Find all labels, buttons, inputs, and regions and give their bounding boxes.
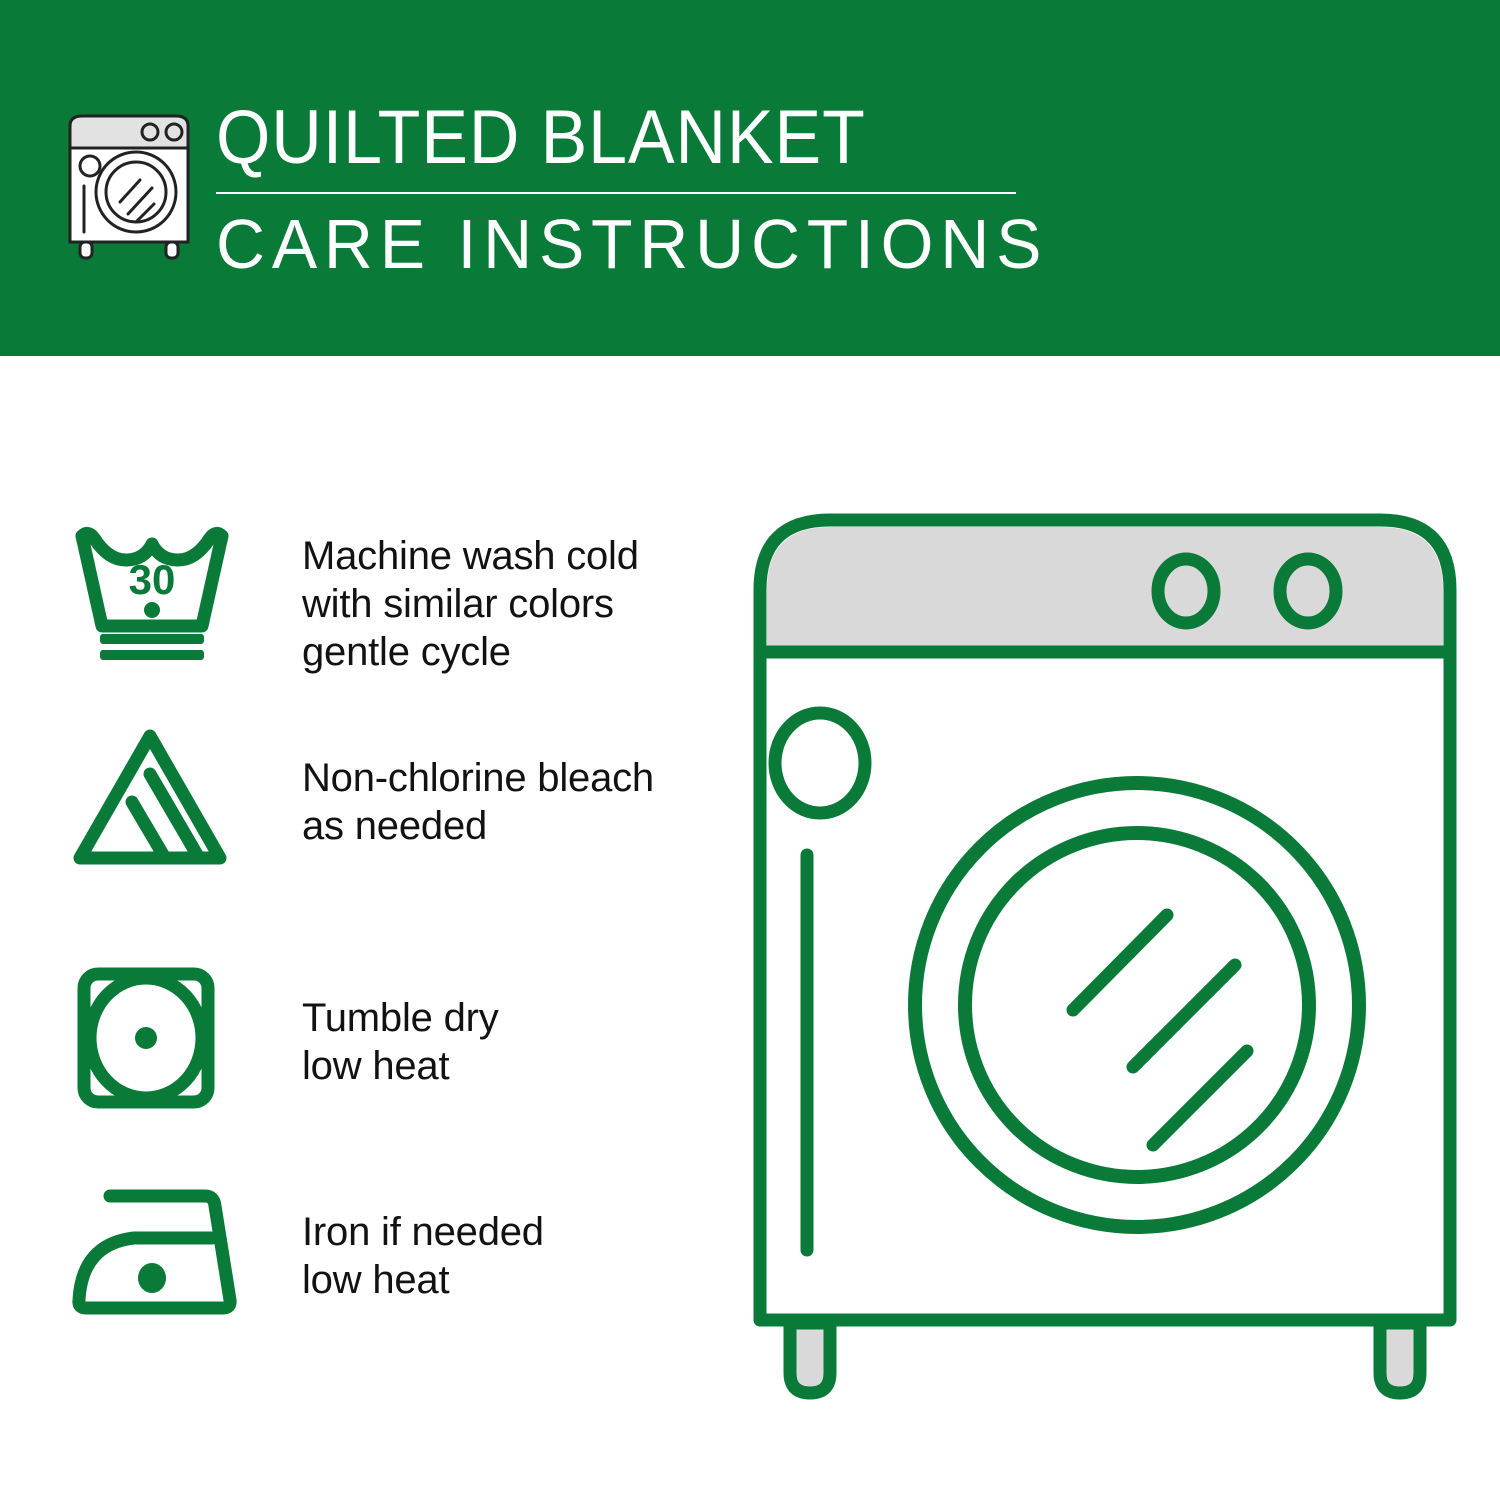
- wash-tub-30-icon: 30: [72, 522, 232, 662]
- care-item-label: Non-chlorine bleach as needed: [302, 754, 654, 850]
- care-item-label: Machine wash cold with similar colors ge…: [302, 532, 639, 676]
- bleach-triangle-icon: [72, 724, 232, 869]
- front-load-washing-machine-illustration: [735, 495, 1475, 1415]
- care-item-label: Tumble dry low heat: [302, 994, 499, 1090]
- page-title: QUILTED BLANKET: [216, 96, 952, 180]
- page-subtitle: CARE INSTRUCTIONS: [216, 204, 992, 284]
- header-text-block: QUILTED BLANKET CARE INSTRUCTIONS: [216, 96, 1016, 284]
- care-item-label: Iron if needed low heat: [302, 1208, 544, 1304]
- care-instruction-list: 30 Machine wash cold with similar colors…: [0, 356, 720, 1500]
- wash-temperature-label: 30: [129, 556, 176, 603]
- washer-foot-left: [790, 1323, 830, 1393]
- washer-foot-right: [1380, 1323, 1420, 1393]
- header-banner: QUILTED BLANKET CARE INSTRUCTIONS: [0, 0, 1500, 356]
- tumble-dry-icon: [72, 966, 232, 1111]
- iron-icon: [72, 1182, 247, 1317]
- washing-machine-icon: [62, 104, 202, 264]
- title-divider: [216, 192, 1016, 194]
